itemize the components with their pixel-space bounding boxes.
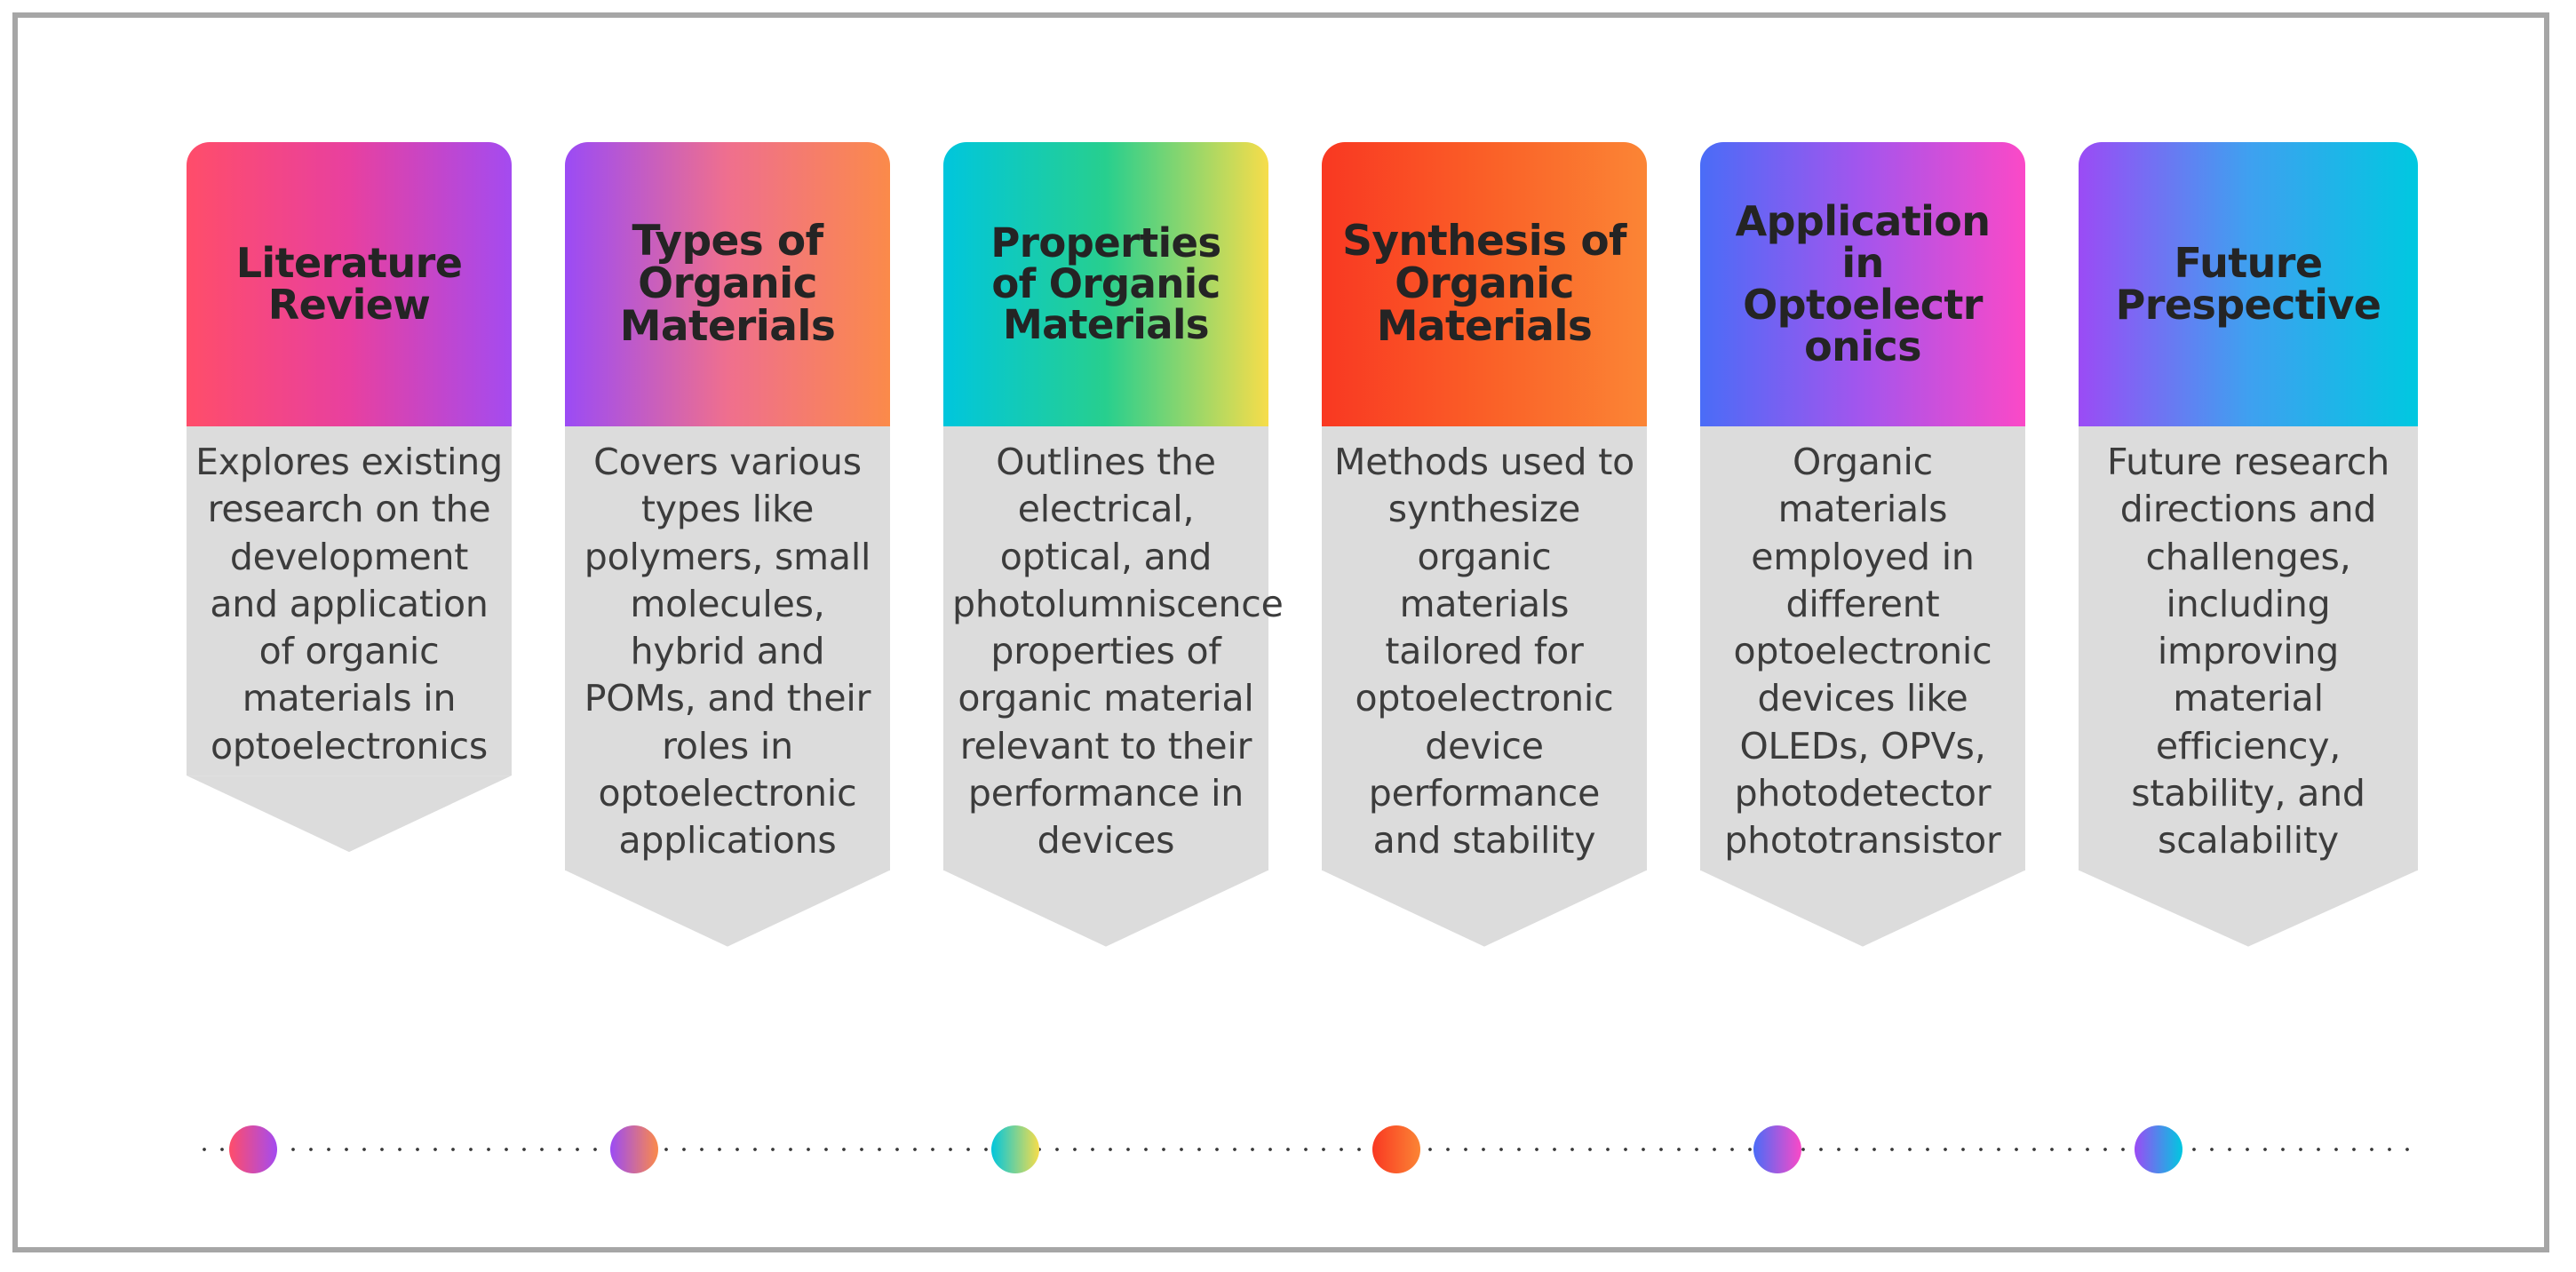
timeline-dot-future-prespective[interactable] (2135, 1125, 2182, 1173)
column-arrow-tip (2079, 871, 2418, 947)
column-description: Future research directions and challenge… (2079, 426, 2418, 871)
column-arrow-tip (187, 775, 512, 852)
column-header-synthesis-of-organic-materials: Synthesis of Organic Materials (1322, 142, 1647, 426)
timeline-dot-application-in-optoelectronics[interactable] (1753, 1125, 1801, 1173)
column-title: Synthesis of Organic Materials (1327, 220, 1642, 348)
column-body-wrapper: Explores existing research on the develo… (187, 426, 512, 852)
column-title: Application in Optoelectr onics (1705, 201, 2020, 368)
column-body-wrapper: Covers various types like polymers, smal… (565, 426, 890, 947)
infographic-stage: Literature Review Explores existing rese… (18, 18, 2544, 1247)
timeline-dotted-line (195, 1146, 2420, 1153)
column-arrow-tip (565, 871, 890, 947)
process-column-types-of-organic-materials[interactable]: Types of Organic Materials Covers variou… (565, 142, 890, 947)
timeline-dot-literature-review[interactable] (229, 1125, 277, 1173)
column-arrow-tip (1322, 871, 1647, 947)
column-description: Methods used to synthesize organic mater… (1322, 426, 1647, 871)
column-description: Organic materials employed in different … (1700, 426, 2025, 871)
column-description: Explores existing research on the develo… (187, 426, 512, 775)
process-column-literature-review[interactable]: Literature Review Explores existing rese… (187, 142, 512, 852)
column-title: Future Prespective (2084, 242, 2413, 326)
column-header-application-in-optoelectronics: Application in Optoelectr onics (1700, 142, 2025, 426)
column-description: Covers various types like polymers, smal… (565, 426, 890, 871)
column-title: Literature Review (192, 242, 506, 326)
column-header-literature-review: Literature Review (187, 142, 512, 426)
column-description: Outlines the electrical, optical, and ph… (943, 426, 1268, 871)
process-column-application-in-optoelectronics[interactable]: Application in Optoelectr onics Organic … (1700, 142, 2025, 947)
column-body-wrapper: Organic materials employed in different … (1700, 426, 2025, 947)
timeline-dot-types-of-organic-materials[interactable] (610, 1125, 658, 1173)
infographic-frame: Literature Review Explores existing rese… (12, 12, 2549, 1252)
column-body-wrapper: Methods used to synthesize organic mater… (1322, 426, 1647, 947)
column-body-wrapper: Future research directions and challenge… (2079, 426, 2418, 947)
process-column-properties-of-organic-materials[interactable]: Properties of Organic Materials Outlines… (943, 142, 1268, 947)
timeline-dot-synthesis-of-organic-materials[interactable] (1372, 1125, 1420, 1173)
process-column-synthesis-of-organic-materials[interactable]: Synthesis of Organic Materials Methods u… (1322, 142, 1647, 947)
process-column-future-prespective[interactable]: Future Prespective Future research direc… (2079, 142, 2418, 947)
column-arrow-tip (943, 871, 1268, 947)
column-header-properties-of-organic-materials: Properties of Organic Materials (943, 142, 1268, 426)
column-arrow-tip (1700, 871, 2025, 947)
column-title: Types of Organic Materials (570, 220, 885, 348)
timeline (195, 1119, 2420, 1181)
column-header-future-prespective: Future Prespective (2079, 142, 2418, 426)
column-title: Properties of Organic Materials (949, 223, 1263, 346)
column-header-types-of-organic-materials: Types of Organic Materials (565, 142, 890, 426)
column-body-wrapper: Outlines the electrical, optical, and ph… (943, 426, 1268, 947)
timeline-dot-properties-of-organic-materials[interactable] (991, 1125, 1039, 1173)
